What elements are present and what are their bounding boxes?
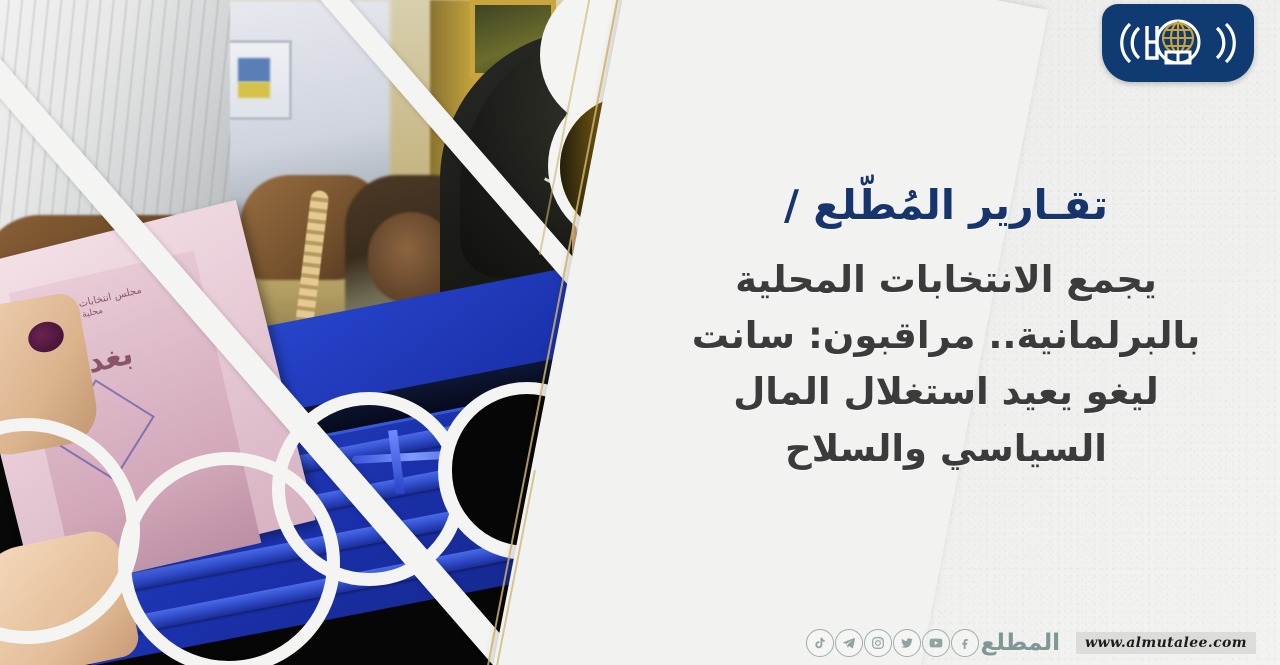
youtube-icon[interactable] (922, 629, 950, 657)
article-headline: يجمع الانتخابات المحلية بالبرلمانية.. مر… (646, 252, 1246, 477)
logo-mark (1114, 12, 1242, 74)
twitter-icon[interactable] (893, 629, 921, 657)
instagram-icon[interactable] (864, 629, 892, 657)
headline-line-3: ليغو يعيد استغلال المال (646, 364, 1246, 420)
telegram-icon[interactable] (835, 629, 863, 657)
scene-notice-yellow (238, 82, 270, 98)
tiktok-icon[interactable] (806, 629, 834, 657)
footer-social-group: المطلع (806, 629, 1062, 657)
al-mutalee-logo[interactable] (1102, 4, 1254, 82)
bubble-ring-3 (272, 392, 466, 586)
scene-notice-blue (238, 58, 270, 82)
news-card: مجلس انتخابات محلية بغداد (0, 0, 1280, 665)
social-links (806, 629, 979, 657)
brand-name-arabic: المطلع (981, 632, 1060, 655)
footer-bar: المطلع www.almutalee.com (806, 629, 1256, 657)
headline-line-1: يجمع الانتخابات المحلية (646, 252, 1246, 308)
website-url: www.almutalee.com (1076, 632, 1256, 654)
facebook-icon[interactable] (951, 629, 979, 657)
article-kicker: تقـارير المُطّلع / (646, 180, 1246, 230)
article-text-block: تقـارير المُطّلع / يجمع الانتخابات المحل… (646, 180, 1246, 477)
headline-line-2: بالبرلمانية.. مراقبون: سانت (646, 308, 1246, 364)
headline-line-4: السياسي والسلاح (646, 421, 1246, 477)
